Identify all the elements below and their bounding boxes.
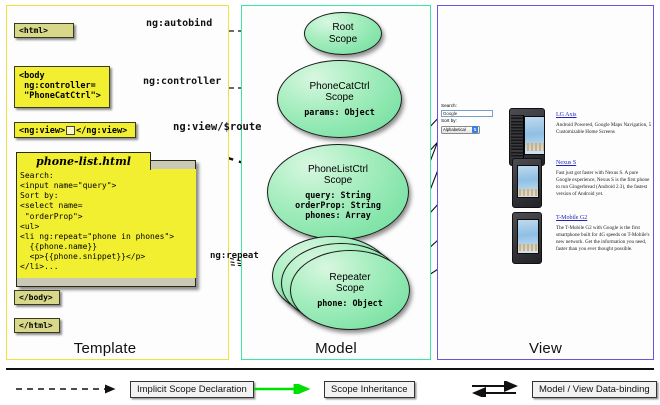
edge-label-ng-view-route: ng:view/$route [173,121,262,133]
tag-html-close: </html> [14,318,60,333]
green-arrow-icon [252,384,318,394]
dashed-arrow-icon [14,384,124,394]
phone-title-link[interactable]: Nexus S [556,160,576,166]
scope-phonecatctrl-title: PhoneCatCtrl Scope [309,81,369,103]
scope-root: Root Scope [304,12,382,55]
legend-inheritance-label: Scope Inheritance [324,381,415,398]
scope-phonecatctrl-props: params: Object [304,107,375,117]
scope-repeater-title: Repeater Scope [329,272,370,294]
scope-root-title: Root Scope [329,22,357,44]
phone-keyboard-decor [511,115,524,159]
chevron-updown-icon: ⇅ [472,126,478,133]
search-label: Search: [441,103,499,110]
tag-ngview-open: <ng:view> [19,126,65,136]
tag-html-open: <html> [14,23,74,38]
tag-ngview: <ng:view></ng:view> [14,122,136,138]
legend-scope-inheritance: Scope Inheritance [252,381,415,397]
phone-snippet-text: The T-Mobile G2 with Google is the first… [556,225,652,253]
scope-phonelistctrl: PhoneListCtrl Scope query: String orderP… [267,144,409,240]
phone-screen-decor [524,116,545,155]
scope-phonelistctrl-title: PhoneListCtrl Scope [308,164,368,186]
phone-list-note-code: Search: <input name="query"> Sort by: <s… [17,169,196,278]
phone-screen-decor [517,165,539,199]
tag-body-text: <body ng:controller= "PhoneCatCtrl"> [19,71,101,101]
phone-list-note-title: phone-list.html [16,152,151,170]
edge-label-ng-autobind: ng:autobind [146,18,212,29]
edge-label-ng-controller: ng:controller [143,76,221,87]
sort-select-value: Alphabetical [443,127,466,132]
phone-thumbnail-t-mobile-g2 [512,212,542,264]
tag-body-close: </body> [14,290,60,305]
phone-snippet-text: Android Powered, Google Maps Navigation,… [556,122,652,136]
search-form: Search: Sort by: Alphabetical ⇅ [441,103,499,134]
panel-model-label: Model [242,340,430,357]
scope-phonelistctrl-props: query: String orderProp: String phones: … [295,190,381,220]
phone-snippet-text: Fast just got faster with Nexus S. A pur… [556,170,652,198]
panel-view-label: View [438,340,653,357]
double-arrow-icon [470,381,526,397]
phone-screen-decor [517,219,539,254]
legend-databinding-label: Model / View Data-binding [532,381,657,398]
phone-title-link[interactable]: LG Axis [556,112,577,118]
legend-implicit-scope-declaration: Implicit Scope Declaration [14,381,254,397]
phone-thumbnail-nexus-s [512,158,542,208]
ngview-slot-icon [66,126,75,135]
sort-select[interactable]: Alphabetical ⇅ [441,126,480,134]
scope-repeater: Repeater Scope phone: Object [290,250,410,330]
tag-body-open: <body ng:controller= "PhoneCatCtrl"> [14,66,110,108]
scope-phonecatctrl: PhoneCatCtrl Scope params: Object [277,60,402,138]
scope-repeater-props: phone: Object [317,298,383,308]
sort-label: Sort by: [441,118,499,125]
legend-divider [6,368,654,370]
legend-implicit-label: Implicit Scope Declaration [130,381,254,398]
edge-label-ng-repeat: ng:repeat [210,251,259,261]
tag-ngview-close: </ng:view> [76,126,127,136]
panel-template-label: Template [25,340,185,357]
legend-data-binding: Model / View Data-binding [470,381,657,397]
search-input[interactable] [441,110,493,117]
phone-title-link[interactable]: T-Mobile G2 [556,215,587,221]
